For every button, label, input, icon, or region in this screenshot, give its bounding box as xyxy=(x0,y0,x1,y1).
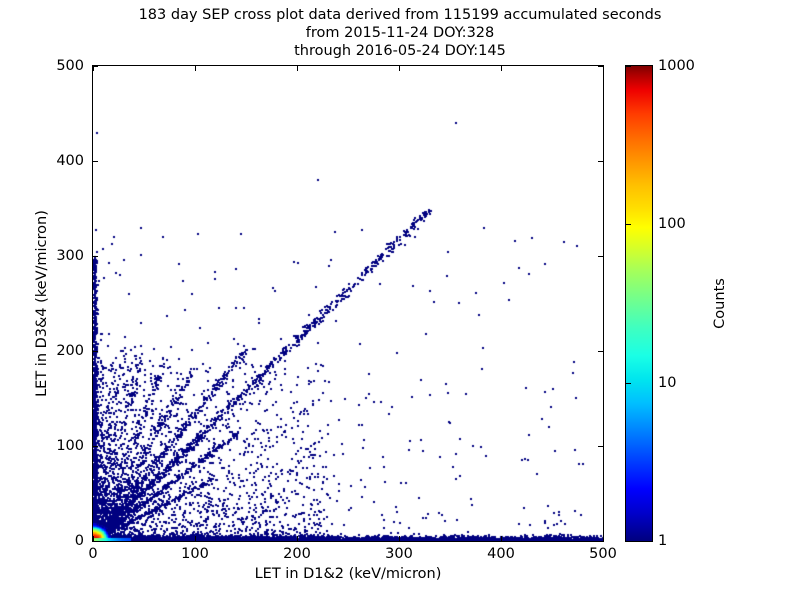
y-tick-mark xyxy=(93,66,98,67)
y-tick-label: 500 xyxy=(20,58,84,74)
plot-title-line-2: from 2015-11-24 DOY:328 xyxy=(0,24,800,42)
y-tick-label: 0 xyxy=(20,533,84,549)
x-tick-mark xyxy=(501,536,502,541)
x-tick-mark xyxy=(399,536,400,541)
colorbar xyxy=(625,65,653,542)
x-tick-label: 100 xyxy=(181,546,209,562)
x-tick-mark-top xyxy=(603,66,604,71)
y-axis-label: LET in D3&4 (keV/micron) xyxy=(34,65,50,542)
y-tick-label: 300 xyxy=(20,248,84,264)
x-tick-mark-top xyxy=(399,66,400,71)
x-tick-mark-top xyxy=(501,66,502,71)
y-tick-mark-right xyxy=(598,541,603,542)
colorbar-tick-label: 100 xyxy=(658,216,686,232)
figure-canvas: 183 day SEP cross plot data derived from… xyxy=(0,0,800,600)
y-tick-mark-right xyxy=(598,256,603,257)
colorbar-tick-mark xyxy=(626,224,631,225)
colorbar-label: Counts xyxy=(712,65,728,542)
y-tick-label: 200 xyxy=(20,343,84,359)
x-axis-label: LET in D1&2 (keV/micron) xyxy=(92,566,604,582)
plot-axes-frame xyxy=(92,65,604,542)
x-tick-label: 500 xyxy=(589,546,617,562)
y-tick-mark-right xyxy=(598,446,603,447)
y-tick-mark xyxy=(93,351,98,352)
x-tick-label: 200 xyxy=(283,546,311,562)
y-tick-mark-right xyxy=(598,351,603,352)
x-tick-label: 300 xyxy=(385,546,413,562)
x-tick-mark-top xyxy=(297,66,298,71)
x-tick-label: 400 xyxy=(487,546,515,562)
y-tick-mark-right xyxy=(598,66,603,67)
colorbar-tick-label: 10 xyxy=(658,375,676,391)
colorbar-tick-mark xyxy=(626,541,631,542)
scatter-plot-canvas xyxy=(93,66,603,541)
x-tick-mark xyxy=(195,536,196,541)
colorbar-tick-mark xyxy=(626,66,631,67)
colorbar-tick-label: 1000 xyxy=(658,58,695,74)
plot-title: 183 day SEP cross plot data derived from… xyxy=(0,6,800,60)
x-tick-mark xyxy=(297,536,298,541)
y-tick-mark xyxy=(93,256,98,257)
colorbar-tick-mark xyxy=(626,383,631,384)
y-tick-mark xyxy=(93,541,98,542)
x-tick-label: 0 xyxy=(88,546,97,562)
y-tick-mark-right xyxy=(598,161,603,162)
colorbar-tick-label: 1 xyxy=(658,533,667,549)
y-tick-label: 100 xyxy=(20,438,84,454)
colorbar-gradient xyxy=(626,66,652,541)
x-tick-mark xyxy=(603,536,604,541)
y-tick-mark xyxy=(93,446,98,447)
x-tick-mark-top xyxy=(195,66,196,71)
plot-title-line-1: 183 day SEP cross plot data derived from… xyxy=(0,6,800,24)
y-tick-label: 400 xyxy=(20,153,84,169)
y-tick-mark xyxy=(93,161,98,162)
